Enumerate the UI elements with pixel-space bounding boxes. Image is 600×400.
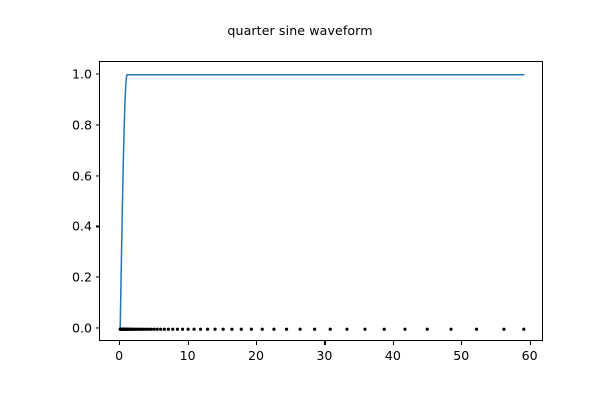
x-tick-label: 40 [363, 348, 423, 363]
data-point-marker [383, 328, 386, 331]
data-series-line [120, 75, 524, 330]
plot-axes [99, 61, 543, 341]
data-point-marker [187, 328, 190, 331]
data-point-marker [176, 328, 179, 331]
x-tick-label: 20 [226, 348, 286, 363]
y-tick-label: 0.4 [52, 219, 92, 234]
data-point-marker [150, 328, 153, 331]
data-point-marker [285, 328, 288, 331]
data-series-markers [119, 328, 526, 331]
y-tick-label: 1.0 [52, 66, 92, 81]
data-point-marker [363, 328, 366, 331]
data-point-marker [449, 328, 452, 331]
data-point-marker [502, 328, 505, 331]
x-tick-label: 50 [431, 348, 491, 363]
data-point-marker [345, 328, 348, 331]
data-point-marker [522, 328, 525, 331]
data-point-marker [222, 328, 225, 331]
y-tick-label: 0.0 [52, 321, 92, 336]
data-point-marker [403, 328, 406, 331]
data-point-marker [167, 328, 170, 331]
x-tick-label: 60 [500, 348, 560, 363]
data-point-marker [163, 328, 166, 331]
y-tick-label: 0.2 [52, 270, 92, 285]
data-point-marker [181, 328, 184, 331]
x-tick-label: 10 [158, 348, 218, 363]
data-point-marker [426, 328, 429, 331]
matplotlib-figure: quarter sine waveform 0.00.20.40.60.81.0… [0, 0, 600, 400]
data-point-marker [206, 328, 209, 331]
data-point-marker [213, 328, 216, 331]
data-point-marker [240, 328, 243, 331]
chart-title: quarter sine waveform [0, 23, 600, 38]
data-point-marker [171, 328, 174, 331]
data-point-marker [152, 328, 155, 331]
x-tick-label: 0 [89, 348, 149, 363]
x-tick-label: 30 [294, 348, 354, 363]
y-tick-label: 0.6 [52, 168, 92, 183]
data-point-marker [272, 328, 275, 331]
data-point-marker [230, 328, 233, 331]
data-point-marker [261, 328, 264, 331]
data-point-marker [192, 328, 195, 331]
y-tick-label: 0.8 [52, 117, 92, 132]
plot-canvas [100, 62, 544, 342]
data-point-marker [159, 328, 162, 331]
data-point-marker [475, 328, 478, 331]
data-point-marker [156, 328, 159, 331]
data-point-marker [199, 328, 202, 331]
data-point-marker [299, 328, 302, 331]
data-point-marker [250, 328, 253, 331]
data-point-marker [329, 328, 332, 331]
data-point-marker [313, 328, 316, 331]
